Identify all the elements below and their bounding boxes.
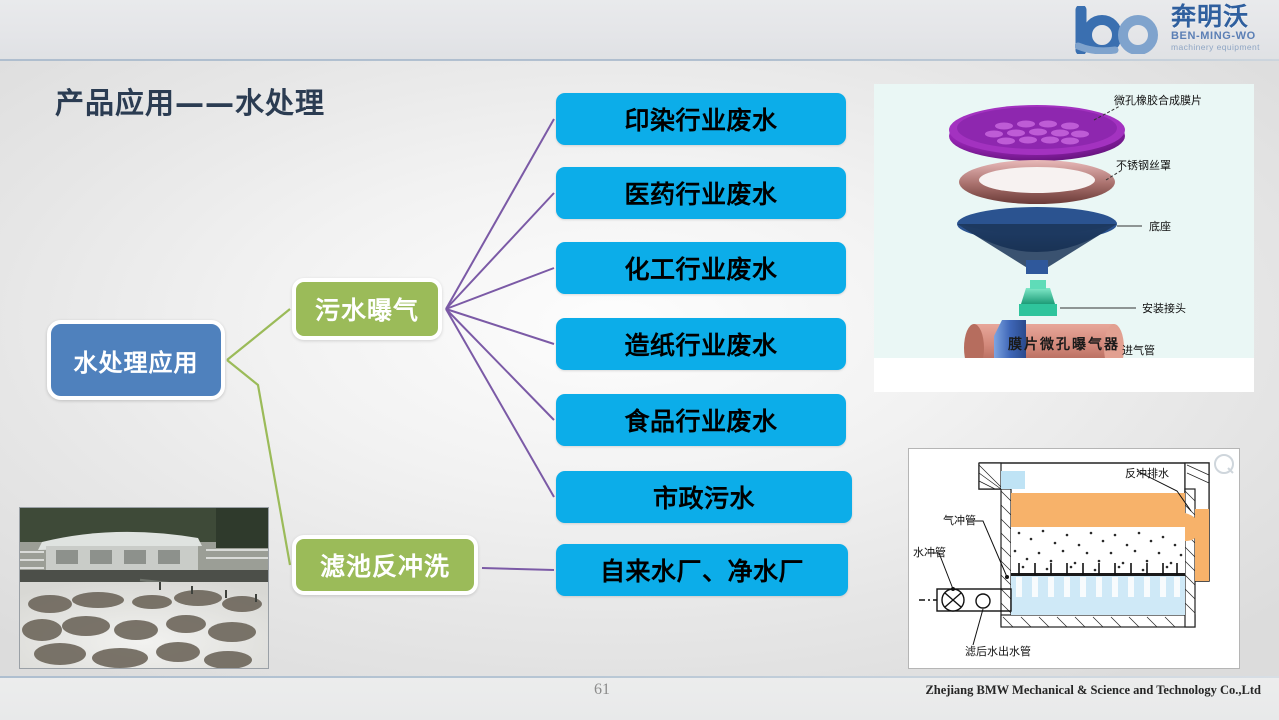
footer-company-name: Zhejiang BMW Mechanical & Science and Te… [925, 683, 1261, 698]
node-branch-filter-backwash[interactable]: 滤池反冲洗 [292, 535, 478, 595]
filter-backwash-diagram-panel: 反冲排水 气冲管 水冲管 滤后水出水管 [908, 448, 1240, 669]
aerator-panel-footer-strip [874, 358, 1254, 392]
aerator-diagram-caption: 膜片微孔曝气器 [874, 334, 1254, 354]
slide: 奔明沃 BEN-MING-WO machinery equipment 产品应用… [0, 0, 1279, 720]
company-logo: 奔明沃 BEN-MING-WO machinery equipment [1075, 4, 1265, 56]
aeration-basin-image [20, 508, 268, 668]
logo-english-name: BEN-MING-WO [1171, 30, 1256, 42]
node-leaf-municipal[interactable]: 市政污水 [556, 471, 852, 523]
logo-tagline: machinery equipment [1171, 42, 1260, 52]
logo-bo-mark [1075, 6, 1167, 54]
node-leaf-pharmaceutical[interactable]: 医药行业废水 [556, 167, 846, 219]
aeration-basin-photo [19, 507, 269, 669]
header-divider [0, 59, 1279, 61]
footer-divider [0, 676, 1279, 678]
filter-backwash-schematic [909, 449, 1239, 668]
aerator-label-base: 底座 [1149, 218, 1171, 234]
watermark-icon [1213, 453, 1235, 475]
filter-label-air-scour-pipe: 气冲管 [943, 512, 976, 528]
aerator-label-membrane: 微孔橡胶合成膜片 [1114, 92, 1202, 108]
filter-label-water-wash-pipe: 水冲管 [913, 544, 946, 560]
page-title: 产品应用——水处理 [55, 80, 325, 122]
node-leaf-food[interactable]: 食品行业废水 [556, 394, 846, 446]
node-leaf-chemical[interactable]: 化工行业废水 [556, 242, 846, 294]
filter-label-filtered-outlet: 滤后水出水管 [965, 643, 1031, 659]
node-leaf-paper[interactable]: 造纸行业废水 [556, 318, 846, 370]
logo-chinese-name: 奔明沃 [1171, 4, 1249, 30]
aerator-label-steel-cover: 不锈钢丝罩 [1116, 157, 1171, 173]
node-branch-sewage-aeration[interactable]: 污水曝气 [292, 278, 442, 340]
filter-label-backwash-drain: 反冲排水 [1125, 465, 1169, 481]
aerator-label-connector: 安装接头 [1142, 300, 1186, 316]
node-leaf-waterworks[interactable]: 自来水厂、净水厂 [556, 544, 848, 596]
page-number: 61 [594, 681, 610, 699]
node-root-water-treatment[interactable]: 水处理应用 [47, 320, 225, 400]
node-leaf-printing-dyeing[interactable]: 印染行业废水 [556, 93, 846, 145]
